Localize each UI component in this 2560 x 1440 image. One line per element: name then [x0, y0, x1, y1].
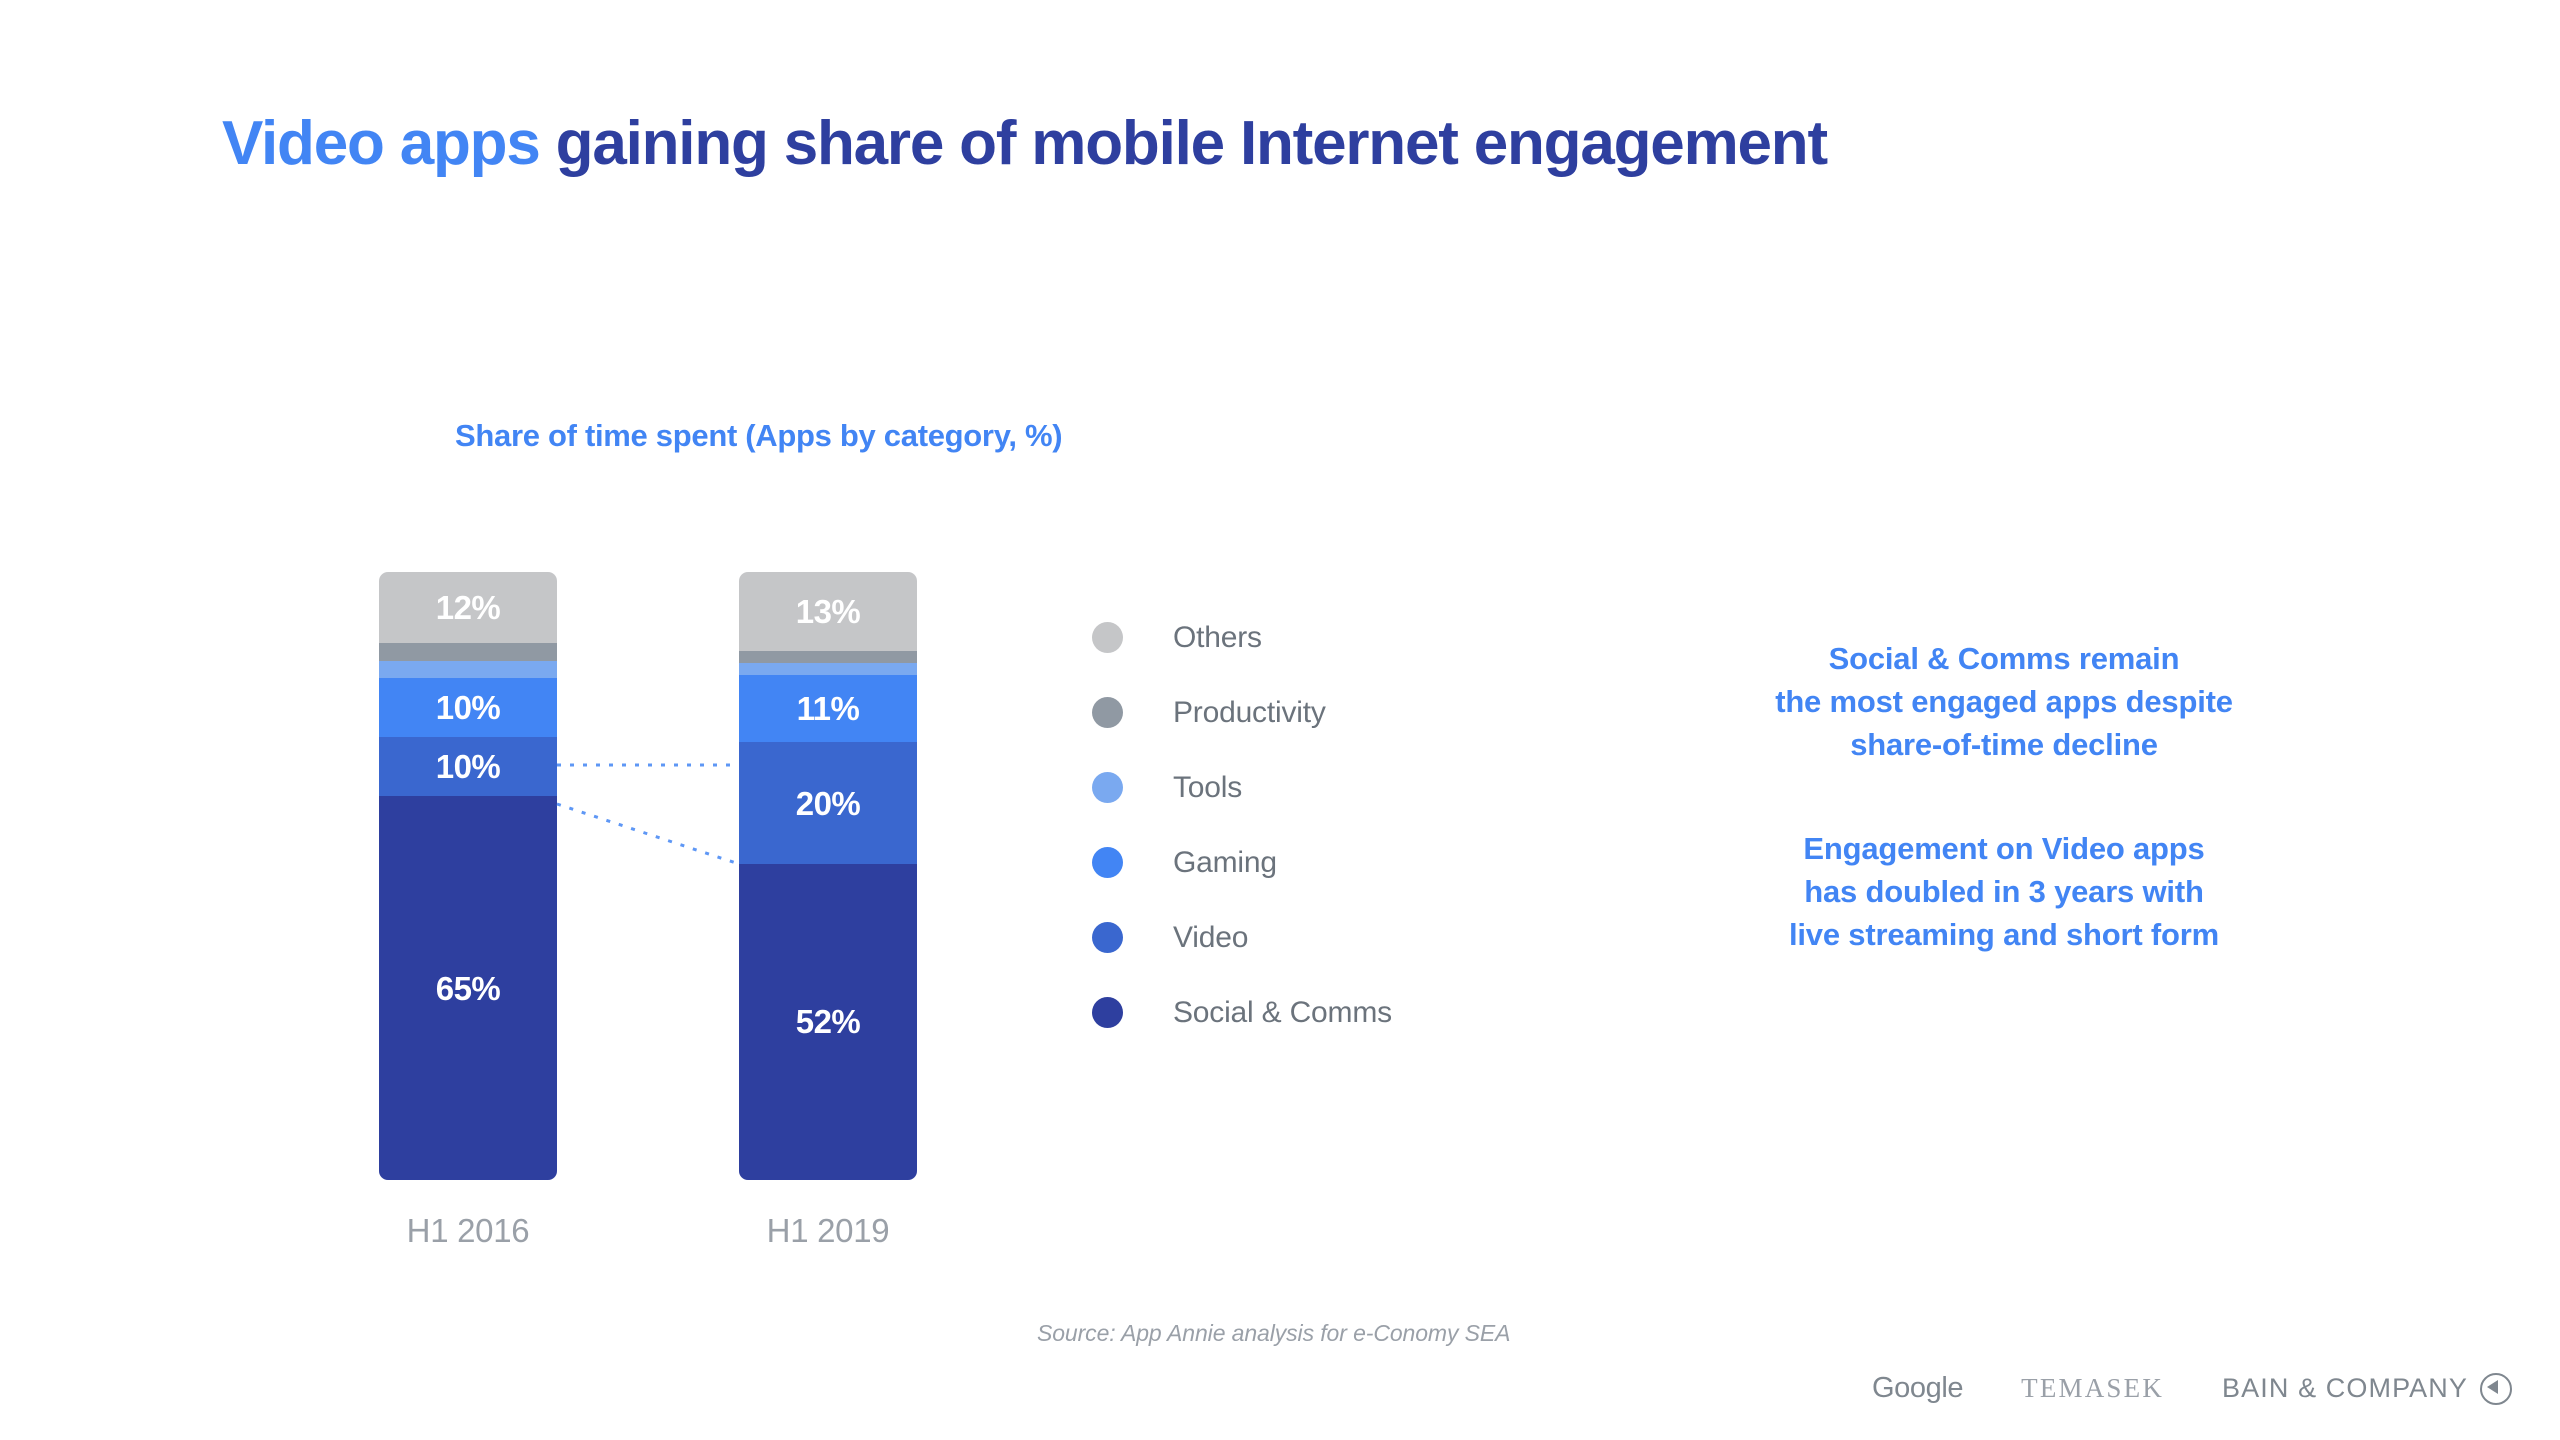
legend-item-productivity[interactable]: Productivity: [1092, 675, 1392, 750]
bar-segment-label: 65%: [436, 972, 501, 1005]
bain-logo-group: BAIN & COMPANY: [2222, 1373, 2512, 1405]
legend-item-label: Productivity: [1173, 696, 1326, 730]
bain-logo: BAIN & COMPANY: [2222, 1373, 2468, 1404]
bain-circle-triangle-icon: [2480, 1373, 2512, 1405]
legend-swatch-icon: [1092, 847, 1123, 878]
callout-social-comms: Social & Comms remainthe most engaged ap…: [1648, 638, 2360, 766]
callout-panel: Social & Comms remainthe most engaged ap…: [1648, 638, 2360, 957]
bar-segment-others[interactable]: 13%: [739, 572, 917, 651]
page-title-rest: gaining share of mobile Internet engagem…: [540, 109, 1827, 178]
bar-segment-video[interactable]: 10%: [379, 737, 557, 796]
bar-segment-label: 13%: [796, 595, 861, 628]
connector-video-social: [557, 804, 739, 864]
stacked-bar-h1-2019[interactable]: 13%11%20%52%: [739, 572, 917, 1180]
legend-swatch-icon: [1092, 772, 1123, 803]
chart-legend: OthersProductivityToolsGamingVideoSocial…: [1092, 600, 1392, 1050]
legend-item-others[interactable]: Others: [1092, 600, 1392, 675]
bar-segment-social-comms[interactable]: 52%: [739, 864, 917, 1180]
bar-segment-label: 11%: [797, 692, 860, 725]
legend-swatch-icon: [1092, 622, 1123, 653]
legend-item-video[interactable]: Video: [1092, 900, 1392, 975]
legend-item-gaming[interactable]: Gaming: [1092, 825, 1392, 900]
legend-item-label: Others: [1173, 621, 1262, 655]
bar-segment-video[interactable]: 20%: [739, 742, 917, 864]
legend-swatch-icon: [1092, 922, 1123, 953]
bar-segment-others[interactable]: 12%: [379, 572, 557, 643]
legend-item-tools[interactable]: Tools: [1092, 750, 1392, 825]
bar-segment-label: 10%: [436, 750, 501, 783]
callout-video-engagement: Engagement on Video appshas doubled in 3…: [1648, 828, 2360, 956]
legend-item-label: Social & Comms: [1173, 996, 1392, 1030]
page-title: Video apps gaining share of mobile Inter…: [222, 108, 1827, 179]
bar-segment-productivity[interactable]: [739, 651, 917, 663]
bar-segment-tools[interactable]: [739, 663, 917, 675]
chart-subtitle: Share of time spent (Apps by category, %…: [455, 418, 1062, 454]
temasek-logo: TEMASEK: [2021, 1373, 2164, 1404]
bar-segment-tools[interactable]: [379, 661, 557, 679]
bar-caption-h1-2016: H1 2016: [318, 1212, 618, 1250]
legend-swatch-icon: [1092, 697, 1123, 728]
legend-swatch-icon: [1092, 997, 1123, 1028]
bar-segment-label: 20%: [796, 787, 861, 820]
bar-caption-h1-2019: H1 2019: [678, 1212, 978, 1250]
legend-item-label: Tools: [1173, 771, 1242, 805]
bar-segment-productivity[interactable]: [379, 643, 557, 661]
bar-segment-social-comms[interactable]: 65%: [379, 796, 557, 1180]
legend-item-label: Gaming: [1173, 846, 1277, 880]
bar-segment-label: 12%: [436, 591, 501, 624]
google-logo: Google: [1872, 1372, 1963, 1405]
footer-logos: Google TEMASEK BAIN & COMPANY: [1872, 1372, 2512, 1405]
legend-item-label: Video: [1173, 921, 1248, 955]
bar-segment-gaming[interactable]: 10%: [379, 678, 557, 737]
bar-segment-label: 10%: [436, 691, 501, 724]
page-title-highlight: Video apps: [222, 109, 540, 178]
legend-item-social-comms[interactable]: Social & Comms: [1092, 975, 1392, 1050]
bar-segment-gaming[interactable]: 11%: [739, 675, 917, 742]
stacked-bar-h1-2016[interactable]: 12%10%10%65%: [379, 572, 557, 1180]
bar-segment-label: 52%: [796, 1005, 861, 1038]
source-note: Source: App Annie analysis for e-Conomy …: [1037, 1320, 1510, 1347]
